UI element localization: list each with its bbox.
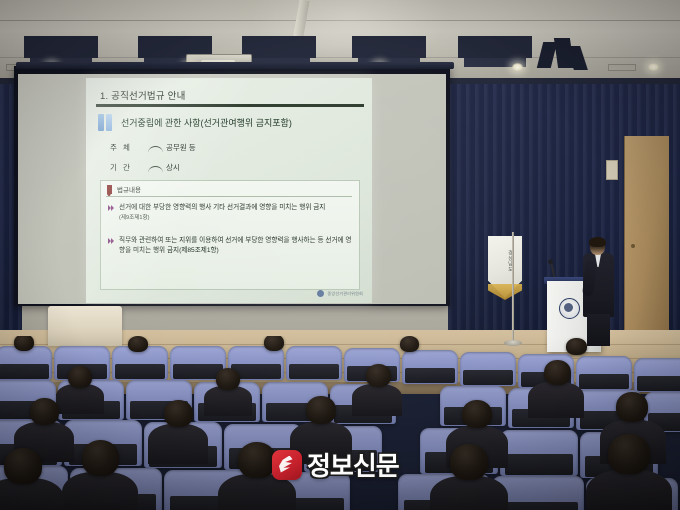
law-box-header-label: 법규내용 [117, 184, 141, 194]
slide-footer-logo-text: 중앙선거관리위원회 [327, 291, 363, 297]
attendee-shoulders [586, 470, 672, 510]
door-knob [631, 244, 635, 248]
slide-row-subject: 주 체 공무원 등 [110, 142, 196, 153]
attendee-head [608, 434, 650, 474]
attendee-head [14, 336, 34, 351]
jeongbo-sinmun-logo-icon [272, 450, 302, 480]
slide-row-period: 기 간 상시 [110, 162, 180, 173]
attendee-shoulders [148, 424, 208, 464]
watermark-text: 정보신문 [307, 446, 399, 483]
flag-text: 경상남도 [498, 250, 512, 272]
seat[interactable] [0, 346, 52, 380]
attendee-shoulders [528, 382, 584, 418]
double-arrow-icon [108, 204, 115, 211]
auditorium-photo: 1. 공직선거법규 안내 선거중립에 관한 사항(선거관여행위 금지포함) 주 … [0, 0, 680, 510]
attendee-head [544, 360, 571, 385]
attendee-head [164, 400, 193, 427]
slide-subhead-row: 선거중립에 관한 사항(선거관여행위 금지포함) [98, 114, 292, 131]
ceiling-vent [608, 64, 636, 71]
seat[interactable] [286, 346, 342, 380]
seat[interactable] [460, 352, 516, 386]
ceiling-baffle [458, 36, 532, 58]
attendee-head [68, 366, 92, 388]
slide-footer-logo: 중앙선거관리위원회 [317, 290, 363, 297]
attendee-shoulders [56, 384, 104, 414]
law-bullet-text: 직무와 관련하여 또는 지위를 이용하여 선거에 부당한 영향력을 행사하는 등… [119, 237, 351, 254]
press-watermark: 정보신문 [272, 446, 399, 483]
seat[interactable] [500, 430, 578, 476]
attendee-head [306, 396, 336, 424]
double-arrow-icon [108, 237, 115, 244]
attendee-head [128, 336, 148, 352]
attendee-head [216, 368, 240, 390]
swoosh-icon [148, 164, 163, 171]
law-bullet-item: 선거에 대한 부당한 영향력의 행사 기타 선거결과에 영향을 미치는 행위 금… [108, 203, 354, 222]
attendee-shoulders [204, 386, 252, 416]
attendee-head [82, 440, 119, 476]
ceiling-baffle [352, 36, 426, 58]
law-bullet-text: 선거에 대한 부당한 영향력의 행사 기타 선거결과에 영향을 미치는 행위 금… [119, 204, 325, 211]
ceiling-baffle [242, 36, 316, 58]
attendee-head [264, 336, 284, 351]
wall-switch-plate[interactable] [606, 160, 618, 180]
law-box-header: 법규내용 [107, 184, 141, 194]
election-commission-mark [317, 290, 324, 297]
attendee-shoulders [352, 384, 402, 416]
law-bullet-citation: (제9조제1항) [119, 214, 325, 222]
law-content-box: 법규내용 선거에 대한 부당한 영향력의 행사 기타 선거결과에 영향을 미치는… [100, 180, 360, 290]
attendee-head [366, 364, 391, 387]
attendee-head [450, 444, 488, 480]
attendee-head [4, 448, 42, 484]
blue-book-icon [98, 114, 113, 131]
attendee-shoulders [430, 476, 508, 510]
presenter-at-podium [582, 238, 618, 346]
ribbon-bookmark-icon [107, 185, 112, 194]
slide-row-period-label2: 간 [123, 162, 145, 173]
seat[interactable] [402, 350, 458, 384]
attendee-head [616, 392, 648, 422]
stage-door[interactable] [624, 136, 669, 336]
attendee-head [400, 336, 419, 352]
attendee-shoulders [62, 472, 138, 510]
seat[interactable] [634, 358, 680, 392]
attendee-head [462, 400, 492, 428]
swoosh-icon [148, 144, 163, 151]
ceiling-downlight [512, 63, 523, 71]
flag-pole [512, 232, 514, 344]
slide-row-period-value: 상시 [166, 162, 180, 173]
law-bullet-item: 직무와 관련하여 또는 지위를 이용하여 선거에 부당한 영향력을 행사하는 등… [108, 236, 354, 255]
ceiling-downlight [648, 63, 659, 71]
attendee-head [238, 442, 276, 478]
attendee-head [30, 398, 59, 425]
projected-slide: 1. 공직선거법규 안내 선거중립에 관한 사항(선거관여행위 금지포함) 주 … [86, 78, 372, 303]
projection-screen-roller [16, 62, 454, 69]
ceiling-light-fixture [540, 38, 586, 72]
attendee-head [566, 338, 587, 355]
slide-row-period-label1: 기 [110, 162, 120, 173]
seat[interactable] [576, 356, 632, 390]
institution-emblem [559, 298, 580, 319]
presenter-hair [589, 237, 606, 247]
slide-row-subject-label1: 주 [110, 142, 120, 153]
audience-seating [0, 336, 680, 510]
slide-row-subject-value: 공무원 등 [166, 142, 196, 153]
slide-title: 1. 공직선거법규 안내 [100, 88, 186, 102]
slide-title-rule [96, 104, 364, 107]
slide-subhead: 선거중립에 관한 사항(선거관여행위 금지포함) [121, 116, 292, 129]
law-box-header-rule [106, 196, 352, 197]
slide-row-subject-label2: 체 [123, 142, 145, 153]
ceiling-baffle [24, 36, 98, 58]
